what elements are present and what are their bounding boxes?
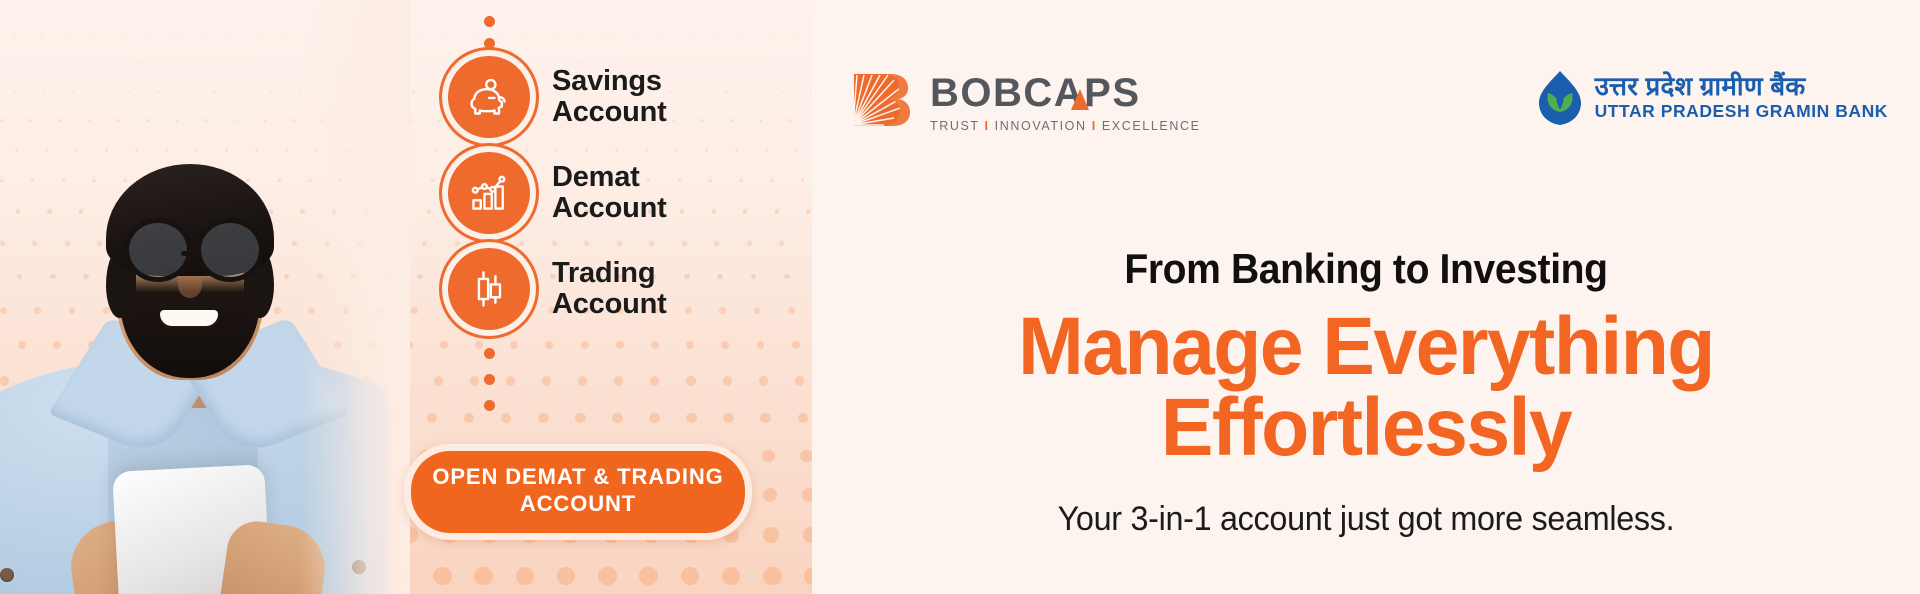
dot	[763, 567, 781, 585]
headline-block: From Banking to Investing Manage Everyth…	[812, 248, 1920, 539]
tagline-separator: I	[985, 119, 990, 133]
promotional-banner: Savings Account	[0, 0, 1920, 594]
tagline-excellence: EXCELLENCE	[1102, 119, 1201, 133]
dot	[389, 413, 400, 424]
headline-subline: Your 3-in-1 account just got more seamle…	[840, 500, 1893, 539]
dot	[394, 10, 396, 12]
left-panel: Savings Account	[0, 0, 812, 594]
dot	[422, 241, 427, 246]
chain-dot	[484, 374, 495, 385]
dot	[435, 149, 438, 152]
dot	[516, 567, 534, 585]
dot	[417, 274, 423, 280]
dot	[405, 341, 413, 349]
photo-smile	[160, 310, 218, 326]
trading-account-icon-circle	[448, 248, 530, 330]
dot	[427, 413, 438, 424]
tagline-separator: I	[1092, 119, 1097, 133]
dot	[803, 527, 812, 543]
savings-account-icon-circle	[448, 56, 530, 138]
bobcaps-tagline: TRUST I INNOVATION I EXCELLENCE	[930, 119, 1201, 133]
open-demat-trading-account-button[interactable]: OPEN DEMAT & TRADING ACCOUNT	[404, 444, 752, 540]
chain-dot	[484, 38, 495, 49]
dot	[681, 567, 699, 585]
feature-item-demat[interactable]: Demat Account	[448, 152, 667, 234]
headline-line-2: Effortlessly	[834, 387, 1898, 468]
dot	[411, 307, 418, 314]
upgb-text: उत्तर प्रदेश ग्रामीण बैंक UTTAR PRADESH …	[1595, 72, 1888, 123]
dot	[762, 450, 774, 462]
feature-label: Demat Account	[552, 162, 667, 225]
uttar-pradesh-gramin-bank-logo[interactable]: उत्तर प्रदेश ग्रामीण बैंक UTTAR PRADESH …	[1537, 68, 1888, 126]
dot	[441, 91, 443, 93]
upgb-english-name: UTTAR PRADESH GRAMIN BANK	[1595, 101, 1888, 122]
candlestick-chart-icon	[467, 267, 511, 311]
dot	[412, 91, 414, 93]
dot	[557, 567, 575, 585]
dot	[598, 567, 616, 585]
photo-shirt-button-left	[0, 568, 14, 582]
photo-eyeglass-left	[124, 218, 192, 282]
demat-account-icon-circle	[448, 152, 530, 234]
dot	[390, 241, 395, 246]
dot	[427, 209, 431, 213]
dot	[405, 149, 408, 152]
dot	[804, 567, 812, 585]
feature-label: Savings Account	[552, 66, 667, 129]
bobcaps-text: BOBCAPS TRUST I INNOVATION I EXCELLENCE	[930, 68, 1201, 133]
dot	[391, 36, 393, 38]
bobcaps-a-accent-icon	[1071, 89, 1089, 110]
dot	[443, 63, 445, 65]
dot	[431, 179, 435, 183]
piggy-bank-icon	[467, 75, 511, 119]
upgb-leaf-drop-icon	[1537, 68, 1583, 126]
upgb-hindi-name: उत्तर प्रदेश ग्रामीण बैंक	[1595, 72, 1888, 102]
feature-item-trading[interactable]: Trading Account	[448, 248, 667, 330]
dot	[440, 341, 448, 349]
dot	[420, 10, 422, 12]
dot	[639, 567, 657, 585]
dot	[400, 179, 404, 183]
dot	[409, 119, 412, 122]
dot	[395, 209, 399, 213]
dot	[474, 567, 492, 585]
bar-chart-line-icon	[467, 171, 511, 215]
bobcaps-fan-b-icon	[850, 68, 914, 130]
bobcaps-wordmark-text: BOBCAPS	[930, 71, 1141, 115]
dot	[445, 36, 447, 38]
dot	[397, 376, 406, 385]
photo-shirt-button-right	[352, 560, 366, 574]
headline-kicker: From Banking to Investing	[851, 248, 1881, 290]
dot	[434, 376, 443, 385]
chain-dot	[484, 16, 495, 27]
chain-dot	[484, 348, 495, 359]
dot	[800, 450, 812, 462]
headline-line-1: Manage Everything	[834, 306, 1898, 387]
dot	[433, 567, 451, 585]
photo-eyeglass-right	[196, 218, 264, 282]
feature-item-savings[interactable]: Savings Account	[448, 56, 667, 138]
dot	[415, 63, 417, 65]
dot	[802, 488, 812, 502]
tagline-innovation: INNOVATION	[995, 119, 1087, 133]
dot	[402, 527, 418, 543]
photo-eyeglass-bridge	[181, 251, 199, 256]
dot	[418, 36, 420, 38]
account-feature-chain: Savings Account	[448, 0, 812, 420]
chain-dot	[484, 400, 495, 411]
bobcaps-logo[interactable]: BOBCAPS TRUST I INNOVATION I EXCELLENCE	[850, 68, 1201, 133]
right-panel: BOBCAPS TRUST I INNOVATION I EXCELLENCE	[812, 0, 1920, 594]
tagline-trust: TRUST	[930, 119, 979, 133]
hero-photo	[0, 0, 388, 594]
bobcaps-wordmark: BOBCAPS	[930, 73, 1141, 113]
dot	[763, 527, 779, 543]
dot	[392, 567, 410, 585]
dot	[763, 488, 777, 502]
feature-label: Trading Account	[552, 258, 667, 321]
dot	[722, 567, 740, 585]
dot	[438, 119, 441, 122]
